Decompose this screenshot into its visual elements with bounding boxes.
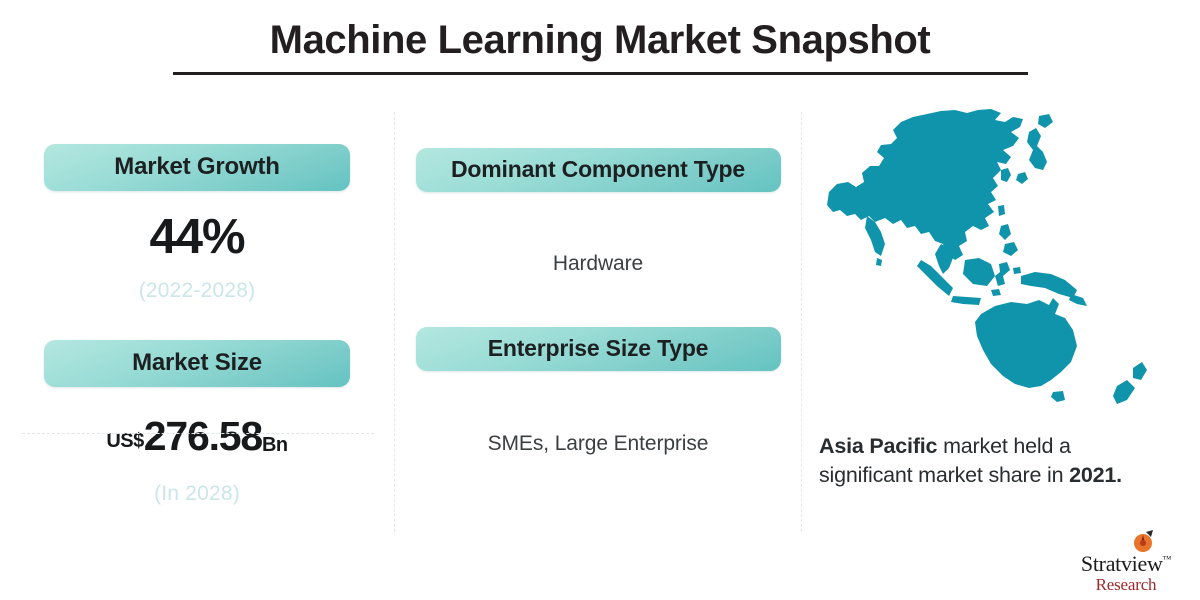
logo-name-text: Stratview bbox=[1081, 551, 1163, 576]
market-size-card: Market Size US$276.58Bn (In 2028) bbox=[0, 340, 394, 506]
map-caption: Asia Pacific market held a significant m… bbox=[819, 432, 1167, 490]
caption-bold-lead: Asia Pacific bbox=[819, 434, 937, 458]
market-size-value: US$276.58Bn bbox=[0, 413, 394, 460]
enterprise-size-value: SMEs, Large Enterprise bbox=[395, 432, 801, 456]
brand-logo: Stratview™ Research bbox=[1064, 532, 1188, 594]
market-growth-card: Market Growth 44% (2022-2028) bbox=[0, 144, 394, 303]
horizontal-divider bbox=[22, 433, 374, 434]
right-column: Asia Pacific market held a significant m… bbox=[802, 112, 1200, 542]
enterprise-size-pill: Enterprise Size Type bbox=[416, 327, 781, 371]
caption-bold-tail: 2021. bbox=[1069, 463, 1122, 487]
enterprise-size-card: Enterprise Size Type SMEs, Large Enterpr… bbox=[395, 327, 801, 456]
market-size-period: (In 2028) bbox=[0, 482, 394, 506]
market-growth-value: 44% bbox=[0, 209, 394, 265]
market-size-pill: Market Size bbox=[44, 340, 350, 387]
page-title-block: Machine Learning Market Snapshot bbox=[0, 14, 1200, 75]
market-growth-pill: Market Growth bbox=[44, 144, 350, 191]
page-title: Machine Learning Market Snapshot bbox=[0, 14, 1200, 66]
logo-name: Stratview™ bbox=[1064, 532, 1188, 575]
market-size-number: 276.58 bbox=[144, 413, 262, 459]
logo-trademark: ™ bbox=[1163, 554, 1172, 564]
infographic-root: Machine Learning Market Snapshot Market … bbox=[0, 0, 1200, 600]
logo-subtitle: Research bbox=[1064, 575, 1188, 594]
asia-pacific-map-icon bbox=[815, 108, 1190, 428]
dominant-component-value: Hardware bbox=[395, 252, 801, 276]
dominant-component-card: Dominant Component Type Hardware bbox=[395, 148, 801, 276]
dominant-component-pill: Dominant Component Type bbox=[416, 148, 781, 192]
market-growth-period: (2022-2028) bbox=[0, 279, 394, 303]
middle-column: Dominant Component Type Hardware Enterpr… bbox=[395, 112, 801, 542]
market-size-unit-suffix: Bn bbox=[262, 434, 288, 456]
left-column: Market Growth 44% (2022-2028) Market Siz… bbox=[0, 112, 394, 542]
title-underline-rule bbox=[173, 72, 1028, 75]
